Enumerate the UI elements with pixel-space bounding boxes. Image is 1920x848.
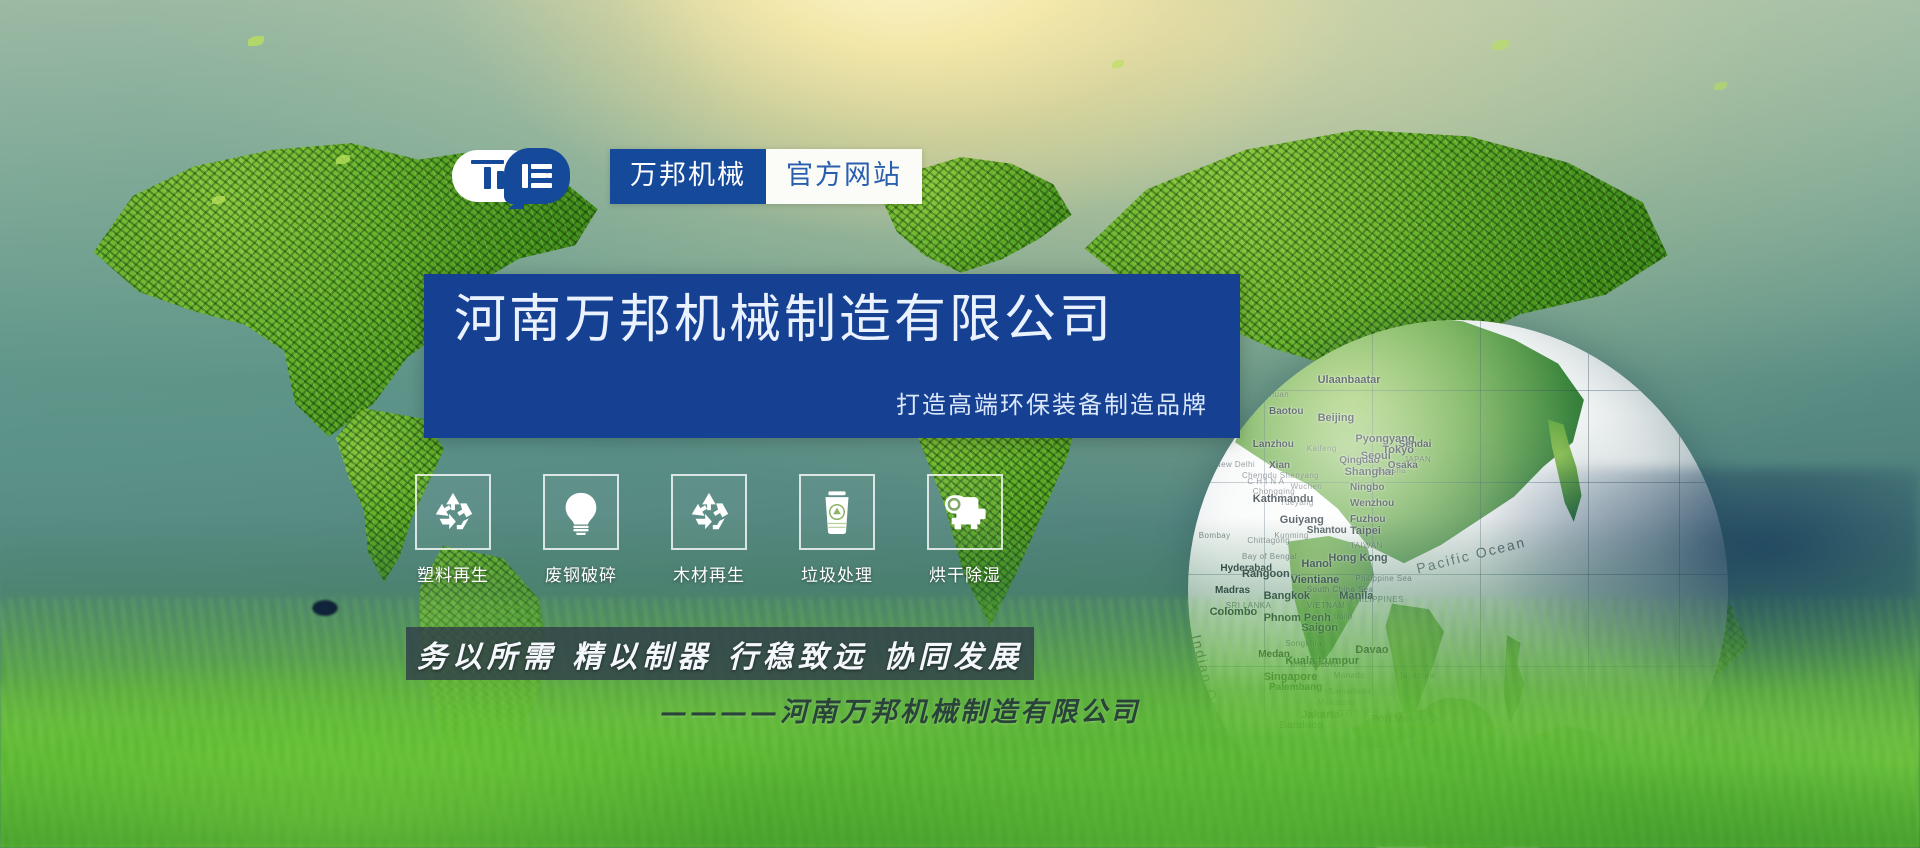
feature-label: 烘干除湿 (929, 561, 1001, 586)
slogan-text: 务以所需 精以制器 行稳致远 协同发展 (417, 632, 1023, 676)
feature-item-wood-recycling[interactable]: 木材再生 (671, 474, 747, 586)
leaf-speck (1492, 40, 1509, 50)
logo-b-mark-icon (522, 164, 552, 188)
feature-icon-box (543, 474, 619, 550)
leaf-speck (1112, 60, 1124, 68)
feature-item-waste-treatment[interactable]: 垃圾处理 (799, 474, 875, 586)
feature-item-plastic-recycling[interactable]: 塑料再生 (415, 474, 491, 586)
slogan-signature: ————河南万邦机械制造有限公司 (660, 690, 1220, 729)
brand-bar: 万邦机械 官方网站 (452, 148, 922, 204)
page-title: 河南万邦机械制造有限公司 (454, 292, 1114, 348)
feature-label: 塑料再生 (417, 561, 489, 586)
feature-icon-box (671, 474, 747, 550)
grass-shadow (0, 728, 1920, 848)
feature-item-drying-dehumidifying[interactable]: 烘干除湿 (927, 474, 1003, 586)
feature-icon-box (927, 474, 1003, 550)
logo-b-bubble-icon (504, 148, 570, 204)
recycle-icon (430, 489, 476, 535)
wanbang-logo[interactable] (452, 148, 570, 204)
feature-icon-row: 塑料再生 废钢破碎 (415, 474, 1003, 586)
trash-bin-icon (814, 489, 860, 535)
insect-speck (312, 600, 338, 616)
hero-title-panel: 河南万邦机械制造有限公司 打造高端环保装备制造品牌 (424, 274, 1240, 438)
feature-label: 垃圾处理 (801, 561, 873, 586)
tab-company[interactable]: 万邦机械 (610, 149, 766, 204)
tab-official-site[interactable]: 官方网站 (766, 149, 922, 204)
leaf-speck (1714, 82, 1727, 90)
hero-banner: Ulaanbaatar Beijing Baotou Yinchuan Lanz… (0, 0, 1920, 848)
feature-icon-box (799, 474, 875, 550)
page-subtitle: 打造高端环保装备制造品牌 (896, 385, 1208, 420)
header-tabs: 万邦机械 官方网站 (610, 149, 922, 204)
dryer-machine-icon (942, 489, 988, 535)
slogan-bar: 务以所需 精以制器 行稳致远 协同发展 (406, 627, 1034, 680)
feature-label: 废钢破碎 (545, 561, 617, 586)
leaf-speck (248, 36, 264, 46)
feature-icon-box (415, 474, 491, 550)
feature-item-scrap-steel-crushing[interactable]: 废钢破碎 (543, 474, 619, 586)
feature-label: 木材再生 (673, 561, 745, 586)
background-bokeh (1400, 468, 1920, 728)
recycle-icon (686, 489, 732, 535)
lightbulb-icon (558, 489, 604, 535)
